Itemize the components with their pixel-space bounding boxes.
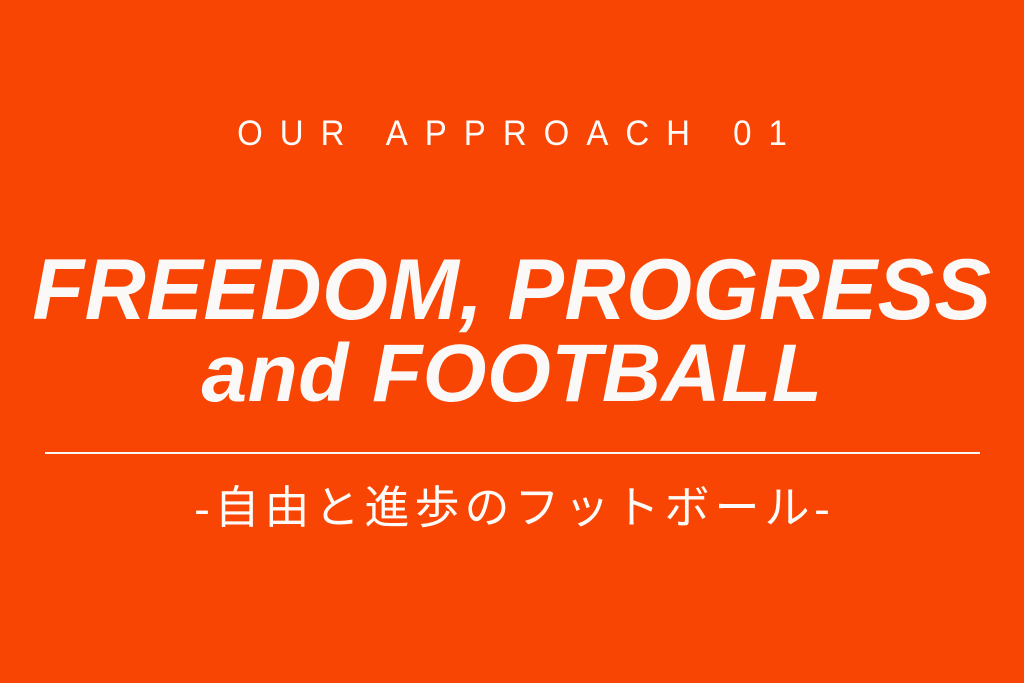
- approach-slide: OUR APPROACH 01 FREEDOM, PROGRESS and FO…: [0, 0, 1024, 683]
- eyebrow-label: OUR APPROACH 01: [0, 111, 1024, 154]
- divider-rule: [45, 452, 980, 454]
- subtitle-japanese: -自由と進歩のフットボール-: [0, 479, 1024, 537]
- headline-line-1: FREEDOM, PROGRESS: [8, 244, 1017, 336]
- headline: FREEDOM, PROGRESS and FOOTBALL: [0, 244, 1024, 418]
- headline-line-2: and FOOTBALL: [0, 330, 1024, 418]
